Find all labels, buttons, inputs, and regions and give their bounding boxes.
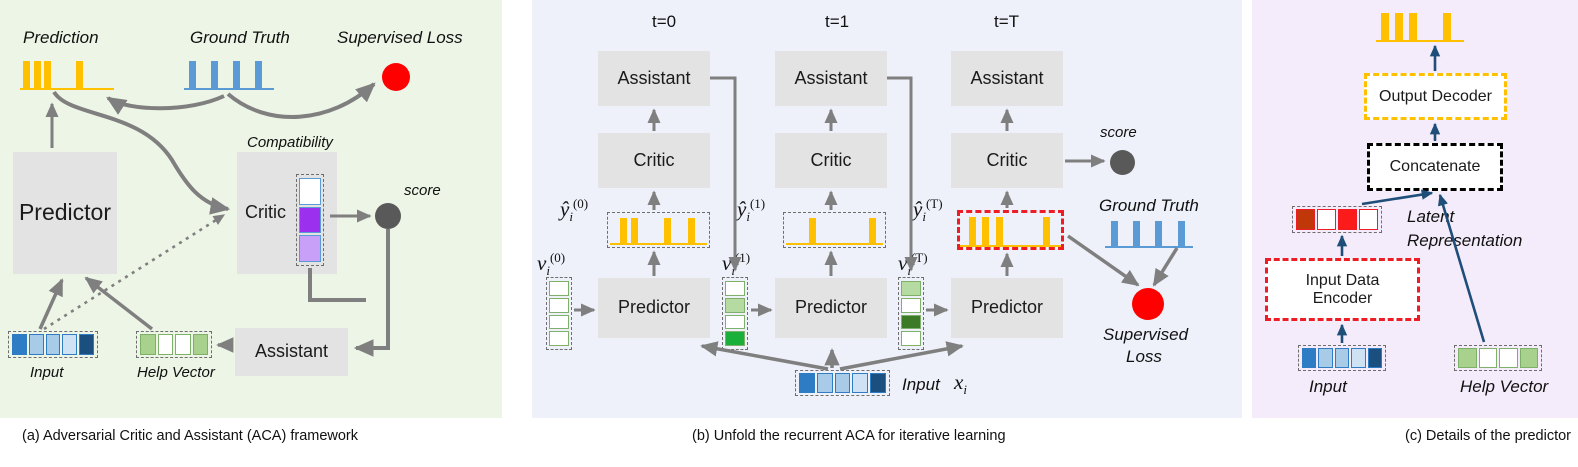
block-predictor-t0[interactable]: Predictor	[598, 278, 710, 338]
vector-cell	[901, 298, 921, 313]
spike-bar	[233, 61, 240, 89]
caption-panel-b: (b) Unfold the recurrent ACA for iterati…	[692, 428, 1006, 444]
v-vector-t0	[546, 277, 572, 350]
vector-cell	[725, 281, 745, 296]
spike-bar	[688, 218, 695, 244]
yhat-label-t1: ŷi(1)	[737, 196, 765, 225]
vector-cell	[852, 373, 868, 393]
ground-truth-spike-train	[184, 58, 274, 90]
vector-cell	[299, 178, 321, 205]
spike-bar	[631, 218, 638, 244]
score-dot-a	[375, 203, 401, 229]
block-critic-tT[interactable]: Critic	[951, 133, 1063, 188]
spike-bar	[1133, 221, 1140, 247]
v-label-tT: vi(T)	[898, 250, 928, 279]
label-ground-truth: Ground Truth	[190, 28, 290, 48]
panel-c-predictor-details: Output Decoder Concatenate Latent Repres…	[1252, 0, 1578, 418]
yhat-spikes-t1	[783, 212, 886, 248]
block-assistant-t0[interactable]: Assistant	[598, 51, 710, 106]
vector-cell	[901, 315, 921, 330]
spike-bar	[1443, 13, 1451, 41]
latent-representation-vector	[1292, 206, 1382, 233]
timestep-label-T: t=T	[994, 12, 1019, 32]
vector-cell	[1520, 348, 1539, 368]
spike-bar	[1043, 217, 1050, 246]
vector-cell	[549, 315, 569, 330]
vector-cell	[1351, 348, 1365, 368]
vector-cell	[1335, 348, 1349, 368]
vector-cell	[299, 235, 321, 262]
spike-bar	[620, 218, 627, 244]
vector-cell	[1359, 209, 1378, 230]
spike-bar	[44, 61, 51, 89]
spike-bar	[1381, 13, 1389, 41]
vector-cell	[725, 331, 745, 346]
caption-panel-c: (c) Details of the predictor	[1405, 428, 1571, 444]
vector-cell	[299, 207, 321, 234]
label-help-vector-c: Help Vector	[1460, 377, 1548, 397]
block-output-decoder[interactable]: Output Decoder	[1364, 73, 1507, 120]
encoder-label-line2: Encoder	[1313, 290, 1373, 308]
label-compatibility: Compatibility	[247, 134, 333, 151]
spike-bar	[1111, 221, 1118, 247]
prediction-spike-train	[20, 58, 114, 90]
caption-panel-a: (a) Adversarial Critic and Assistant (AC…	[22, 428, 358, 444]
spike-bar	[211, 61, 218, 89]
yhat-spikes-tT-highlighted	[957, 210, 1064, 250]
label-input-b: Input	[902, 375, 940, 395]
output-spike-train	[1376, 10, 1464, 42]
v-label-t0: vi(0)	[537, 250, 565, 279]
spike-bar	[996, 217, 1003, 246]
figure-root: Prediction Ground Truth Supervised Loss …	[0, 0, 1578, 467]
vector-cell	[1318, 348, 1332, 368]
label-latent-line2: Representation	[1407, 231, 1522, 251]
vector-cell	[901, 281, 921, 296]
spike-bar	[809, 218, 816, 244]
block-critic-t1[interactable]: Critic	[775, 133, 887, 188]
vector-cell	[1479, 348, 1498, 368]
label-score-b: score	[1100, 124, 1137, 141]
vector-cell	[12, 334, 27, 355]
supervised-loss-dot	[382, 63, 410, 91]
vector-cell	[1338, 209, 1357, 230]
v-label-t1: vi(1)	[722, 250, 750, 279]
spike-bar	[982, 217, 989, 246]
ground-truth-spike-train-b	[1105, 218, 1193, 248]
label-help-vector-a: Help Vector	[137, 364, 215, 381]
spike-bar	[969, 217, 976, 246]
label-latent-line1: Latent	[1407, 207, 1454, 227]
panel-b-unfolded-aca: t=0 t=1 t=T Assistant Critic Predictor A…	[532, 0, 1242, 418]
spike-bar	[869, 218, 876, 244]
vector-cell	[29, 334, 44, 355]
block-input-data-encoder[interactable]: Input Data Encoder	[1265, 258, 1420, 321]
input-vector-c	[1298, 345, 1386, 371]
timestep-label-1: t=1	[825, 12, 849, 32]
score-dot-b	[1110, 150, 1135, 175]
vector-cell	[725, 298, 745, 313]
vector-cell	[817, 373, 833, 393]
help-vector-c	[1454, 345, 1542, 371]
label-supervised-loss-b-line1: Supervised	[1103, 325, 1188, 345]
vector-cell	[175, 334, 191, 355]
input-vector-b	[795, 370, 890, 396]
vector-cell	[799, 373, 815, 393]
vector-cell	[901, 331, 921, 346]
yhat-spikes-t0	[607, 212, 710, 248]
supervised-loss-dot-b	[1132, 288, 1164, 320]
block-predictor-a[interactable]: Predictor	[13, 152, 117, 274]
block-predictor-tT[interactable]: Predictor	[951, 278, 1063, 338]
label-input-a: Input	[30, 364, 63, 381]
label-score-a: score	[404, 182, 441, 199]
yhat-label-t0: ŷi(0)	[560, 196, 588, 225]
vector-cell	[140, 334, 156, 355]
compatibility-vector	[296, 174, 324, 266]
spike-bar	[1155, 221, 1162, 247]
block-concatenate[interactable]: Concatenate	[1367, 143, 1503, 191]
v-vector-t1	[722, 277, 748, 350]
vector-cell	[46, 334, 61, 355]
vector-cell	[62, 334, 77, 355]
label-supervised-loss: Supervised Loss	[337, 28, 463, 48]
vector-cell	[835, 373, 851, 393]
vector-cell	[1317, 209, 1336, 230]
yhat-label-tT: ŷi(T)	[913, 196, 943, 225]
vector-cell	[1458, 348, 1477, 368]
spike-bar	[34, 61, 41, 89]
spike-bar	[76, 61, 83, 89]
spike-bar	[23, 61, 30, 89]
spike-bar	[1178, 221, 1185, 247]
block-assistant-t1[interactable]: Assistant	[775, 51, 887, 106]
vector-cell	[1499, 348, 1518, 368]
spike-bar	[1409, 13, 1417, 41]
block-predictor-t1[interactable]: Predictor	[775, 278, 887, 338]
label-ground-truth-b: Ground Truth	[1099, 196, 1199, 216]
panel-a-aca-framework: Prediction Ground Truth Supervised Loss …	[0, 0, 502, 418]
vector-cell	[1368, 348, 1382, 368]
spike-bar	[664, 218, 671, 244]
block-critic-t0[interactable]: Critic	[598, 133, 710, 188]
vector-cell	[1296, 209, 1315, 230]
spike-bar	[1395, 13, 1403, 41]
spike-bar	[189, 61, 196, 89]
input-vector-a	[8, 331, 98, 358]
help-vector-a	[136, 331, 212, 358]
label-prediction: Prediction	[23, 28, 99, 48]
vector-cell	[549, 281, 569, 296]
encoder-label-line1: Input Data	[1306, 272, 1380, 290]
block-assistant-tT[interactable]: Assistant	[951, 51, 1063, 106]
spike-bar	[255, 61, 262, 89]
vector-cell	[79, 334, 94, 355]
vector-cell	[549, 298, 569, 313]
label-input-c: Input	[1309, 377, 1347, 397]
vector-cell	[870, 373, 886, 393]
vector-cell	[1302, 348, 1316, 368]
vector-cell	[725, 315, 745, 330]
label-input-symbol-b: xi	[954, 370, 967, 398]
label-supervised-loss-b-line2: Loss	[1126, 347, 1162, 367]
vector-cell	[193, 334, 209, 355]
vector-cell	[549, 331, 569, 346]
block-assistant-a[interactable]: Assistant	[235, 328, 348, 376]
timestep-label-0: t=0	[652, 12, 676, 32]
vector-cell	[158, 334, 174, 355]
v-vector-tT	[898, 277, 924, 350]
